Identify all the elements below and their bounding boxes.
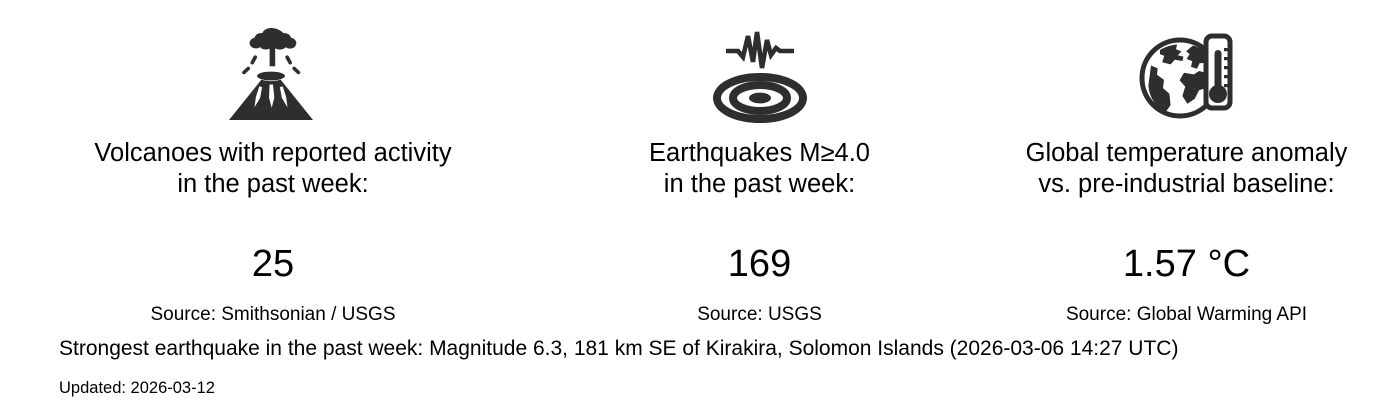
metric-cards-row: Volcanoes with reported activity in the … — [0, 0, 1400, 320]
metric-source: Source: USGS — [697, 303, 822, 327]
updated-timestamp: Updated: 2026-03-12 — [59, 378, 1400, 399]
metric-label: Volcanoes with reported activity in the … — [94, 138, 451, 200]
metric-value: 1.57 °C — [1123, 242, 1250, 286]
dashboard-page: Volcanoes with reported activity in the … — [0, 0, 1400, 420]
metric-card-temperature: Global temperature anomaly vs. pre-indus… — [973, 0, 1400, 327]
seismic-waves-icon — [710, 18, 810, 130]
metric-label: Global temperature anomaly vs. pre-indus… — [1026, 138, 1348, 200]
metric-label: Earthquakes M≥4.0 in the past week: — [649, 138, 870, 200]
volcano-icon — [225, 18, 321, 130]
metric-card-earthquakes: Earthquakes M≥4.0 in the past week: 169 … — [546, 0, 973, 327]
metric-source: Source: Global Warming API — [1066, 303, 1307, 327]
globe-thermometer-icon — [1136, 18, 1238, 130]
footer: Strongest earthquake in the past week: M… — [59, 336, 1400, 399]
metric-value: 25 — [252, 242, 294, 286]
metric-card-volcanoes: Volcanoes with reported activity in the … — [0, 0, 546, 327]
metric-source: Source: Smithsonian / USGS — [151, 303, 396, 327]
strongest-earthquake-note: Strongest earthquake in the past week: M… — [59, 336, 1400, 362]
metric-value: 169 — [728, 242, 791, 286]
